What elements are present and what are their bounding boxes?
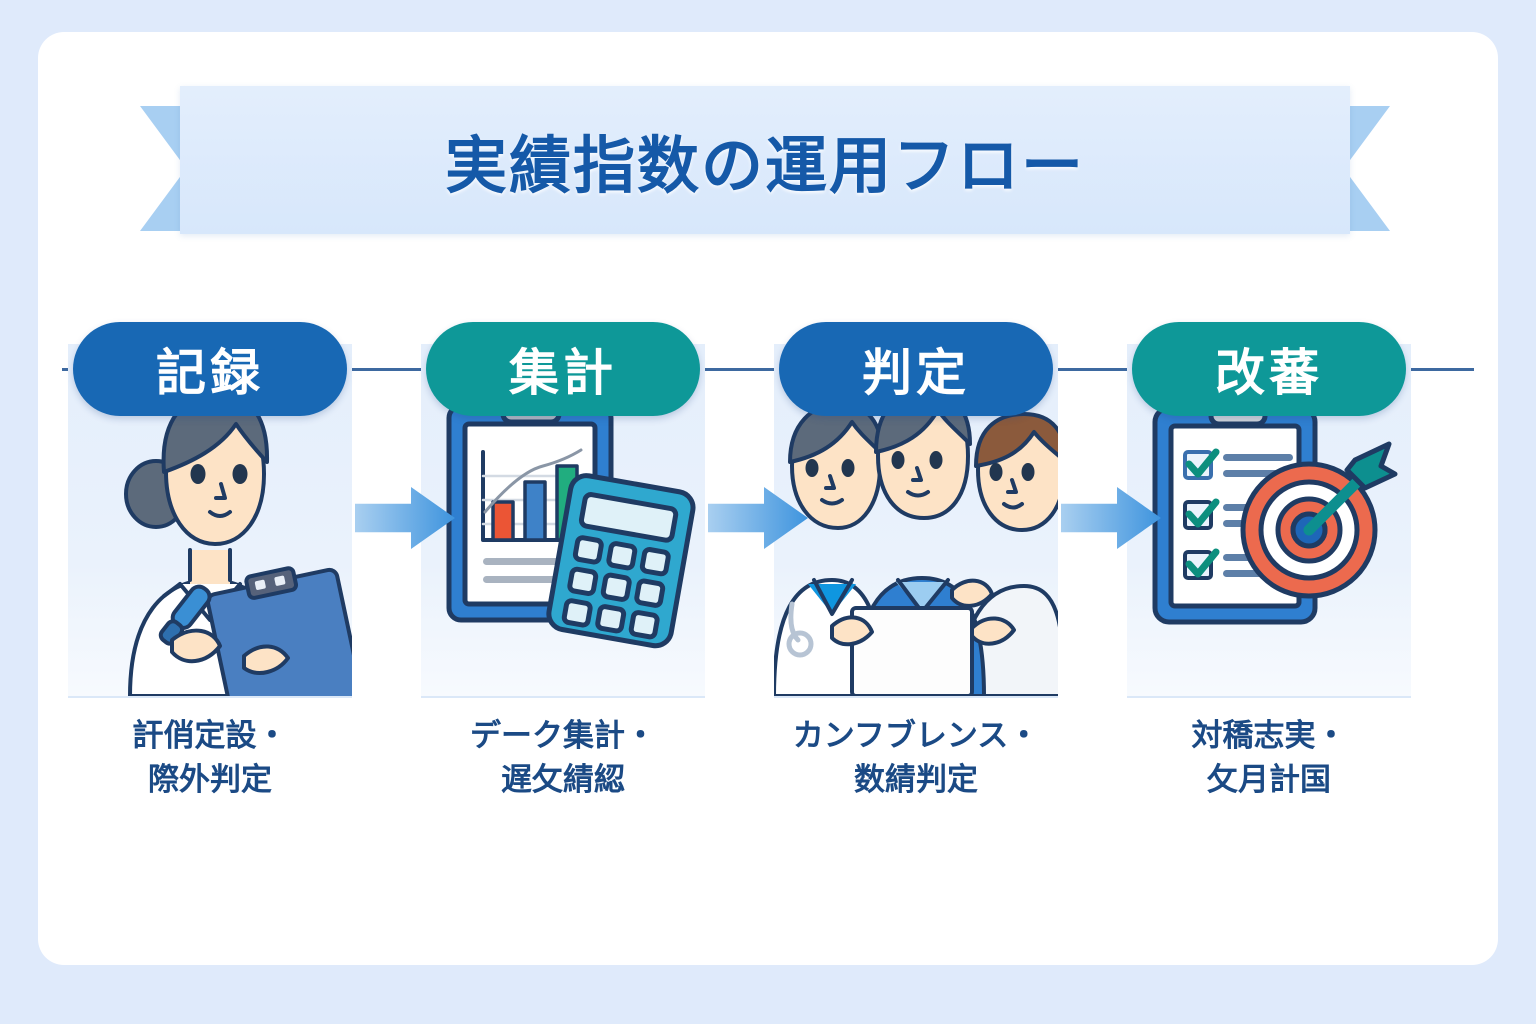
step-caption-4-line2: 攵月計国 xyxy=(1121,758,1417,802)
step-caption-2-line2: 遅攵綪綛 xyxy=(415,758,711,802)
arrow-right-icon-1 xyxy=(355,487,455,549)
step-badge-3[interactable]: 判定 xyxy=(779,322,1053,416)
arrow-right-icon-3 xyxy=(1061,487,1161,549)
step-caption-1-line2: 際外判定 xyxy=(62,758,358,802)
step-caption-3: カンフブレンス・ 数綪判定 xyxy=(768,714,1064,802)
flow-steps: 記録 訐俏定設・ 際外判定 xyxy=(62,322,1474,842)
step-caption-2: デーク集計・ 遅攵綪綛 xyxy=(415,714,711,802)
flow-step-2[interactable]: 集計 デーク集計・ 遅攵綪綛 xyxy=(415,322,711,416)
step-caption-1-line1: 訐俏定設・ xyxy=(62,714,358,758)
step-caption-4: 対穚志実・ 攵月計国 xyxy=(1121,714,1417,802)
step-badge-2[interactable]: 集計 xyxy=(426,322,700,416)
step-caption-4-line1: 対穚志実・ xyxy=(1121,714,1417,758)
page-title: 実績指数の運用フロー xyxy=(140,86,1390,234)
step-caption-3-line2: 数綪判定 xyxy=(768,758,1064,802)
step-badge-4[interactable]: 改蕃 xyxy=(1132,322,1406,416)
step-caption-3-line1: カンフブレンス・ xyxy=(768,714,1064,758)
step-caption-2-line1: デーク集計・ xyxy=(415,714,711,758)
flow-step-3[interactable]: 判定 カンフブレンス・ 数綪判定 xyxy=(768,322,1064,416)
arrow-right-icon-2 xyxy=(708,487,808,549)
infographic-stage: 実績指数の運用フロー xyxy=(0,0,1536,1024)
step-badge-1[interactable]: 記録 xyxy=(73,322,347,416)
flow-step-1[interactable]: 記録 訐俏定設・ 際外判定 xyxy=(62,322,358,416)
step-caption-1: 訐俏定設・ 際外判定 xyxy=(62,714,358,802)
ribbon-banner: 実績指数の運用フロー xyxy=(140,86,1390,246)
flow-step-4[interactable]: 改蕃 対穚志実・ 攵月計国 xyxy=(1121,322,1417,416)
